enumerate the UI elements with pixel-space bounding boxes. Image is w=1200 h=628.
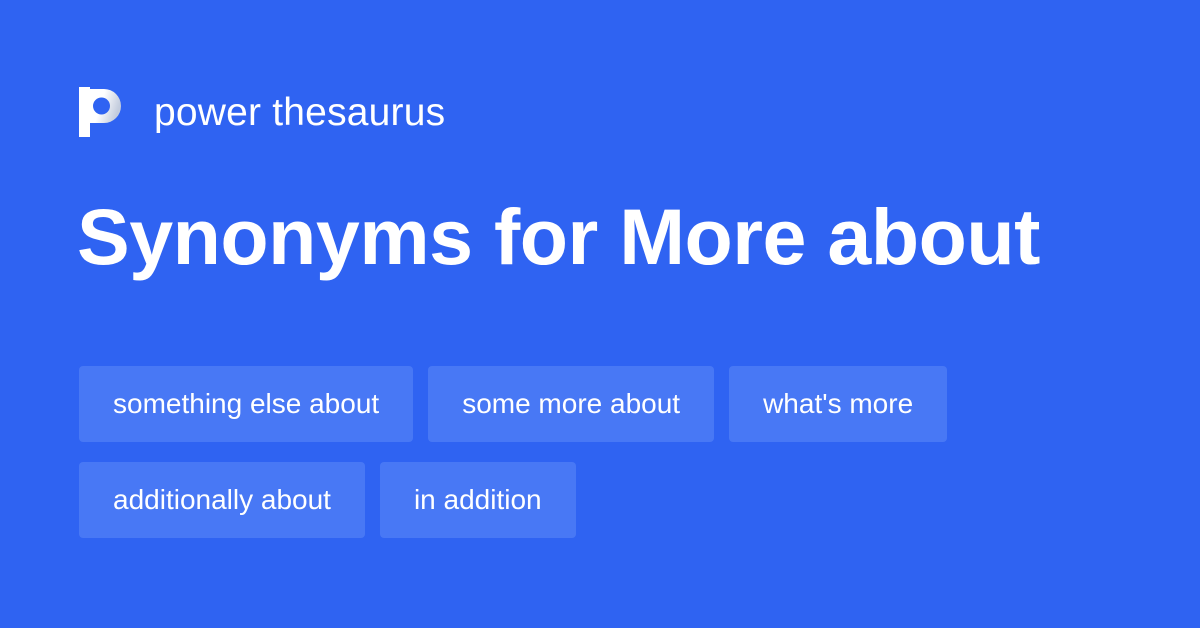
- synonym-chip[interactable]: what's more: [729, 366, 947, 442]
- brand-name: power thesaurus: [154, 93, 445, 132]
- page-root: power thesaurus Synonyms for More about …: [0, 0, 1200, 628]
- synonym-chip[interactable]: additionally about: [79, 462, 365, 538]
- power-thesaurus-b-logo-icon: [79, 87, 127, 137]
- synonym-chip[interactable]: something else about: [79, 366, 413, 442]
- synonym-chip[interactable]: in addition: [380, 462, 576, 538]
- brand-logo[interactable]: power thesaurus: [79, 80, 445, 144]
- synonym-chip-list: something else about some more about wha…: [79, 366, 1139, 538]
- synonym-chip[interactable]: some more about: [428, 366, 714, 442]
- page-title: Synonyms for More about: [77, 197, 1040, 278]
